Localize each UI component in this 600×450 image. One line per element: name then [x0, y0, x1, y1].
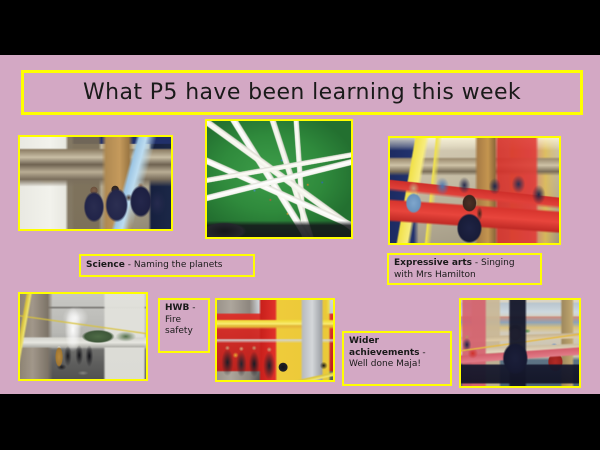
photo-fire-spray[interactable]: [18, 292, 148, 381]
caption-science-separator: -: [125, 260, 134, 270]
caption-wider-achievements-separator: -: [420, 348, 426, 358]
slide-title-box: What P5 have been learning this week: [21, 70, 583, 115]
caption-expressive-arts: Expressive arts - Singing with Mrs Hamil…: [387, 253, 542, 285]
photo-fire-spray-image: [20, 294, 146, 379]
caption-science-detail: Naming the planets: [134, 260, 223, 270]
photo-fire-engine[interactable]: [215, 298, 335, 382]
caption-hwb-subject: HWB: [165, 303, 189, 313]
caption-science-subject: Science: [86, 260, 125, 270]
page-title: What P5 have been learning this week: [83, 80, 521, 105]
caption-wider-achievements-subject: Wider achievements: [349, 336, 420, 358]
photo-pupil-medal[interactable]: [459, 298, 581, 388]
photo-planet-labels[interactable]: [205, 119, 353, 239]
slide-root: What P5 have been learning this week Sci…: [0, 0, 600, 450]
caption-science: Science - Naming the planets: [79, 254, 255, 277]
slide-canvas: What P5 have been learning this week Sci…: [0, 55, 600, 394]
caption-wider-achievements-detail: Well done Maja!: [349, 359, 421, 369]
photo-science-planets[interactable]: [18, 135, 173, 231]
photo-planet-labels-image: [207, 121, 351, 237]
photo-fire-engine-image: [217, 300, 333, 380]
caption-hwb: HWB - Fire safety: [158, 298, 210, 353]
caption-hwb-detail: Fire safety: [165, 315, 193, 337]
caption-expressive-arts-separator: -: [472, 258, 481, 268]
photo-singing-classroom-image: [390, 138, 559, 243]
photo-pupil-medal-image: [461, 300, 579, 386]
caption-hwb-separator: -: [189, 303, 195, 313]
caption-expressive-arts-subject: Expressive arts: [394, 258, 472, 268]
photo-science-planets-image: [20, 137, 171, 229]
photo-singing-classroom[interactable]: [388, 136, 561, 245]
caption-wider-achievements: Wider achievements - Well done Maja!: [342, 331, 452, 386]
